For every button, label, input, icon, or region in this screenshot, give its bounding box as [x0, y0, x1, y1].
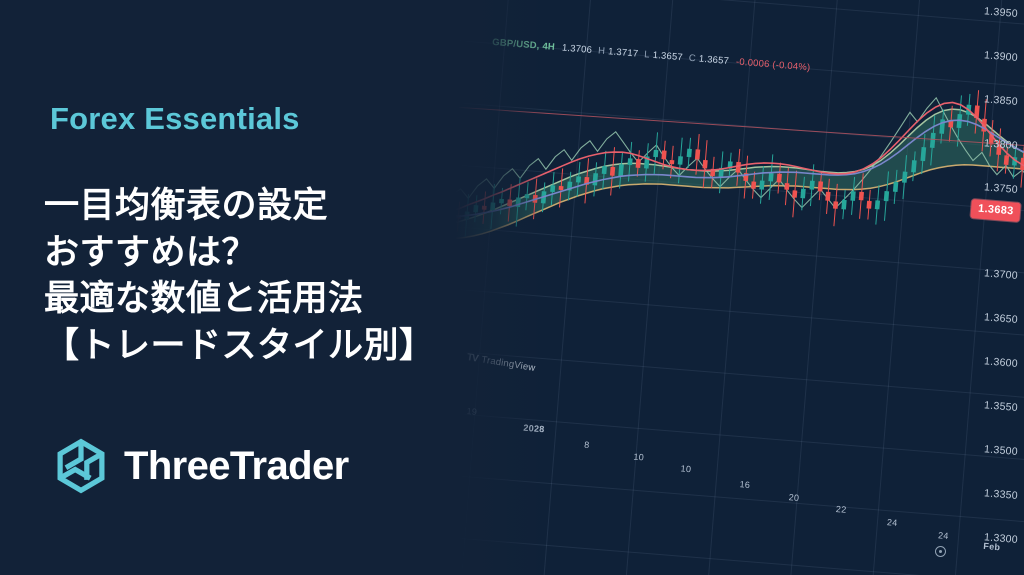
chart-close-label: C [688, 53, 696, 65]
time-tick: 20 [788, 492, 799, 503]
chart-open: 1.3706 [561, 43, 592, 56]
chart-high-label: H [598, 45, 606, 57]
eyebrow-label: Forex Essentials [50, 101, 300, 137]
time-tick: 8 [584, 440, 590, 450]
chart-close: 1.3657 [698, 54, 729, 67]
price-tick: 1.3850 [984, 93, 1019, 108]
page-title: 一目均衡表の設定 おすすめは？ 最適な数値と活用法 【トレードスタイル別】 [44, 183, 464, 369]
headline-line: おすすめは？ [44, 230, 464, 277]
price-tick: 1.3950 [984, 5, 1019, 20]
chart-panel[interactable]: GBP/USD, 4H1.3706H1.3717L1.3657C1.3657-0… [455, 0, 1024, 575]
price-tick: 1.3800 [984, 137, 1019, 152]
time-tick: 10 [633, 452, 644, 463]
threetrader-logo-icon [52, 437, 110, 495]
price-tick: 1.3500 [984, 443, 1019, 458]
chart-low: 1.3657 [652, 50, 683, 63]
headline-line: 【トレードスタイル別】 [44, 323, 464, 370]
chart-high: 1.3717 [608, 46, 639, 59]
headline-line: 最適な数値と活用法 [44, 276, 464, 323]
thumbnail-canvas: GBP/USD, 4H1.3706H1.3717L1.3657C1.3657-0… [0, 0, 1024, 575]
time-tick: 22 [835, 504, 846, 515]
brand-lockup: ThreeTrader [52, 437, 349, 495]
price-tick: 1.3900 [984, 49, 1019, 64]
time-tick: 24 [887, 517, 898, 528]
price-tick: 1.3650 [984, 311, 1019, 326]
time-tick: 16 [739, 479, 750, 490]
last-price-badge: 1.3683 [970, 199, 1021, 222]
chart-low-label: L [644, 49, 650, 60]
price-tick: 1.3600 [984, 355, 1019, 370]
price-tick: 1.3300 [984, 531, 1019, 546]
tradingview-mark: TV [466, 352, 478, 365]
time-tick: 2028 [523, 423, 545, 435]
headline-line: 一目均衡表の設定 [44, 183, 464, 230]
time-tick: 19 [466, 406, 477, 417]
price-tick: 1.3350 [984, 487, 1019, 502]
price-axis[interactable]: 1.39501.39001.38501.38001.37501.37001.36… [914, 0, 1024, 575]
price-tick: 1.3750 [984, 181, 1019, 196]
price-tick: 1.3700 [984, 267, 1019, 282]
time-tick: 10 [680, 463, 691, 474]
brand-name: ThreeTrader [124, 444, 349, 489]
price-tick: 1.3550 [984, 399, 1019, 414]
